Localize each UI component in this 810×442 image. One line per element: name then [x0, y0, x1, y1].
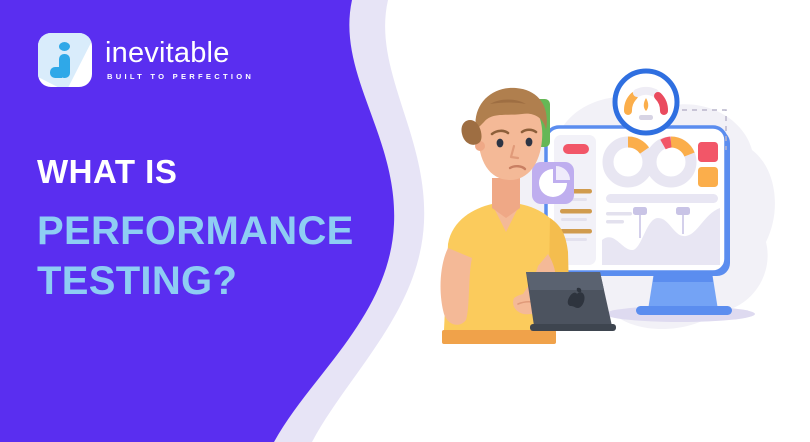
- area-chart-marker-1: [633, 207, 647, 215]
- dashboard-progress-bar: [606, 194, 718, 203]
- pie-chart-badge-icon: [532, 162, 574, 204]
- tile-orange: [698, 167, 718, 187]
- laptop-base: [530, 324, 616, 331]
- tile-red: [698, 142, 718, 162]
- eye-left: [497, 139, 504, 148]
- page-title: PERFORMANCE TESTING?: [37, 206, 354, 306]
- hero-illustration: ?: [430, 58, 800, 388]
- area-chart-marker-2: [676, 207, 690, 215]
- brand-logo-text: inevitable BUILT TO PERFECTION: [105, 38, 254, 82]
- legend-line-2: [606, 220, 624, 224]
- banner-root: inevitable BUILT TO PERFECTION WHAT IS P…: [0, 0, 810, 442]
- gauge-base: [639, 115, 653, 120]
- sidebar-row-3-bar: [560, 229, 592, 234]
- monitor-base: [636, 306, 732, 315]
- eye-right: [526, 138, 533, 147]
- logo-i-dot: [59, 42, 70, 51]
- headline-block: WHAT IS PERFORMANCE TESTING?: [37, 152, 354, 306]
- headline-line-2: TESTING?: [37, 256, 354, 306]
- sidebar-row-2-line: [561, 218, 587, 221]
- logo-i-foot: [50, 67, 62, 78]
- headline-kicker: WHAT IS: [37, 152, 354, 192]
- speed-gauge-icon: [615, 71, 677, 133]
- legend-line-1: [606, 212, 632, 216]
- inevitable-i-logo-icon: [38, 33, 92, 87]
- desk-surface: [442, 330, 556, 344]
- brand-logo[interactable]: inevitable BUILT TO PERFECTION: [38, 33, 254, 87]
- arm-left: [441, 248, 472, 325]
- sidebar-row-2-bar: [560, 209, 592, 214]
- headline-line-1: PERFORMANCE: [37, 206, 354, 256]
- laptop-lid-highlight: [526, 272, 604, 290]
- sidebar-pill: [563, 144, 589, 154]
- brand-name: inevitable: [105, 38, 254, 68]
- brand-tagline: BUILT TO PERFECTION: [107, 71, 254, 82]
